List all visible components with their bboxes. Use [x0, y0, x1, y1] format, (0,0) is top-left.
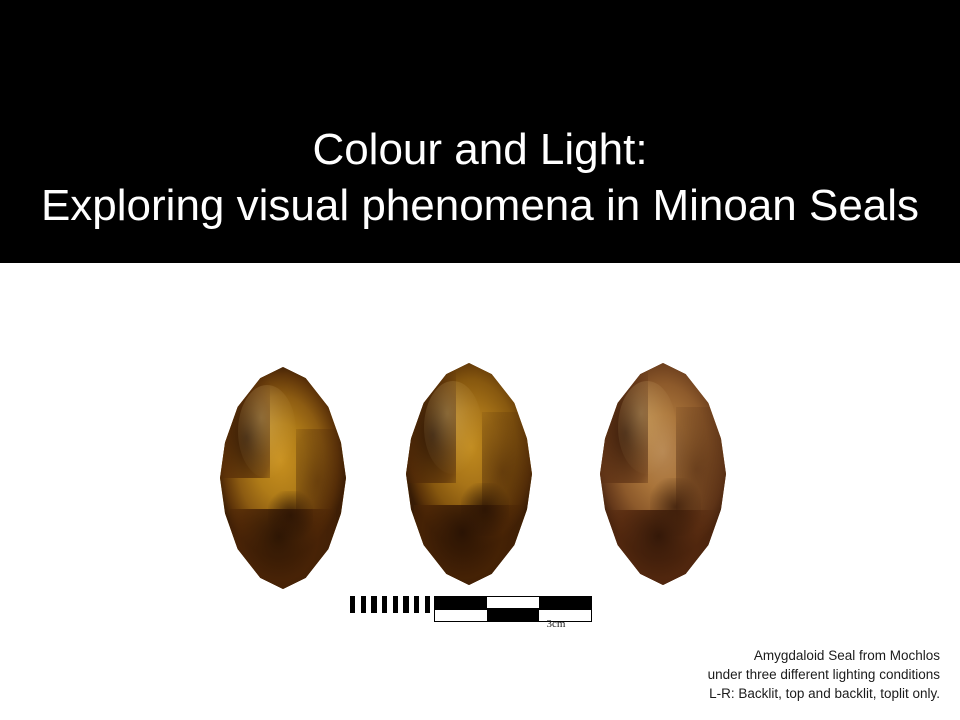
seal-blotch-center [268, 491, 313, 540]
seal-blotch-top-left [600, 363, 648, 483]
seal-outline-backlit [220, 367, 346, 589]
title-line-1: Colour and Light: [0, 122, 960, 178]
scale-row-top [434, 596, 592, 609]
scale-bar-label: 3cm [520, 618, 592, 631]
title-line-2: Exploring visual phenomena in Minoan Sea… [0, 178, 960, 234]
seal-blotch-center [461, 483, 509, 536]
seal-outline-top-and-backlit [406, 363, 532, 585]
scale-block [435, 597, 487, 608]
seal-outline-toplit [600, 363, 726, 585]
title-band: Colour and Light: Exploring visual pheno… [0, 0, 960, 263]
slide-title: Colour and Light: Exploring visual pheno… [0, 122, 960, 234]
figure-area: 3cm Amygdaloid Seal from Mochlos under t… [0, 263, 960, 720]
scale-block [487, 597, 539, 608]
caption-line-3: L-R: Backlit, top and backlit, toplit on… [708, 684, 940, 703]
figure-caption: Amygdaloid Seal from Mochlos under three… [708, 646, 940, 703]
scale-block [539, 597, 591, 608]
seal-image-toplit [600, 363, 726, 585]
scale-bar-fine-graduations [350, 596, 430, 613]
scale-block [435, 610, 487, 621]
presentation-slide: Colour and Light: Exploring visual pheno… [0, 0, 960, 720]
seal-image-top-and-backlit [406, 363, 532, 585]
seal-blotch-top-left [220, 376, 270, 478]
scale-tick [425, 596, 430, 613]
seal-image-backlit [220, 367, 346, 589]
caption-line-1: Amygdaloid Seal from Mochlos [708, 646, 940, 665]
caption-line-2: under three different lighting condition… [708, 665, 940, 684]
seal-blotch-top-left [406, 367, 456, 482]
seal-blotch-center [650, 478, 700, 536]
scale-bar: 3cm [350, 596, 592, 631]
